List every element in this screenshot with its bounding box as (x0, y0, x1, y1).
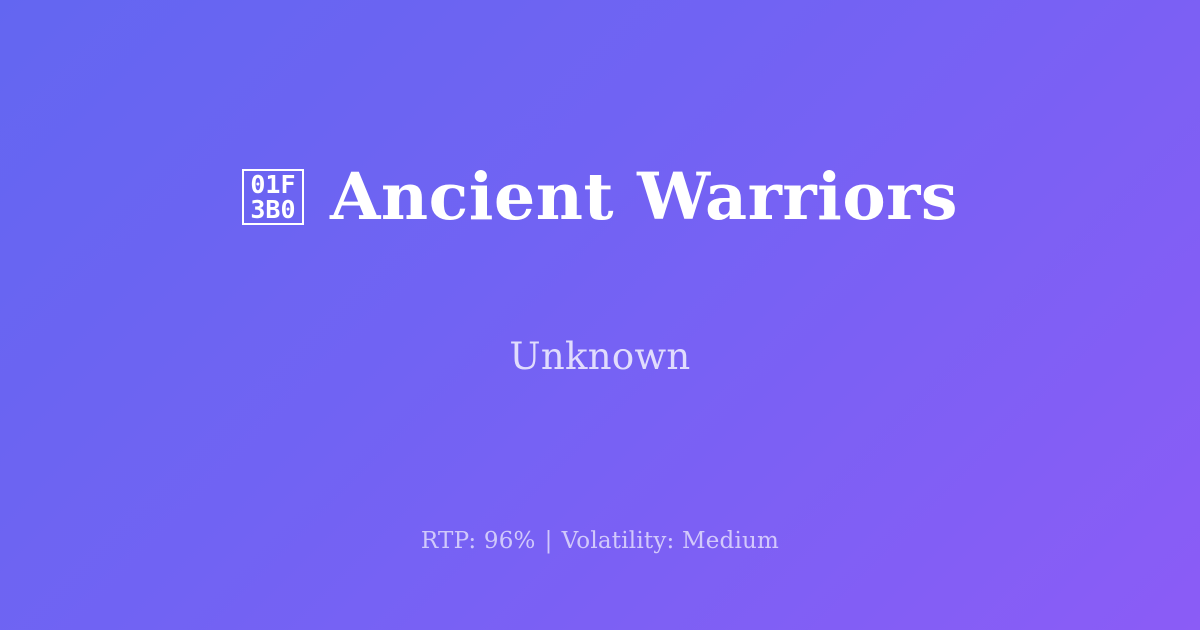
tofu-codepoint-top: 01F (250, 172, 295, 197)
game-provider: Unknown (509, 337, 690, 378)
meta-separator: | (536, 528, 562, 554)
tofu-codepoint-bottom: 3B0 (250, 197, 295, 222)
title-row: 01F 3B0 Ancient Warriors (242, 119, 958, 274)
card-main-content: 01F 3B0 Ancient Warriors Unknown (0, 0, 1200, 497)
game-preview-card: 01F 3B0 Ancient Warriors Unknown RTP: 96… (0, 0, 1200, 630)
rtp-value: RTP: 96% (421, 528, 536, 554)
game-title: Ancient Warriors (330, 163, 958, 231)
volatility-value: Volatility: Medium (562, 528, 779, 554)
slot-machine-icon: 01F 3B0 (242, 169, 304, 225)
card-footer: RTP: 96% | Volatility: Medium (0, 528, 1200, 554)
game-meta-line: RTP: 96% | Volatility: Medium (421, 528, 779, 554)
